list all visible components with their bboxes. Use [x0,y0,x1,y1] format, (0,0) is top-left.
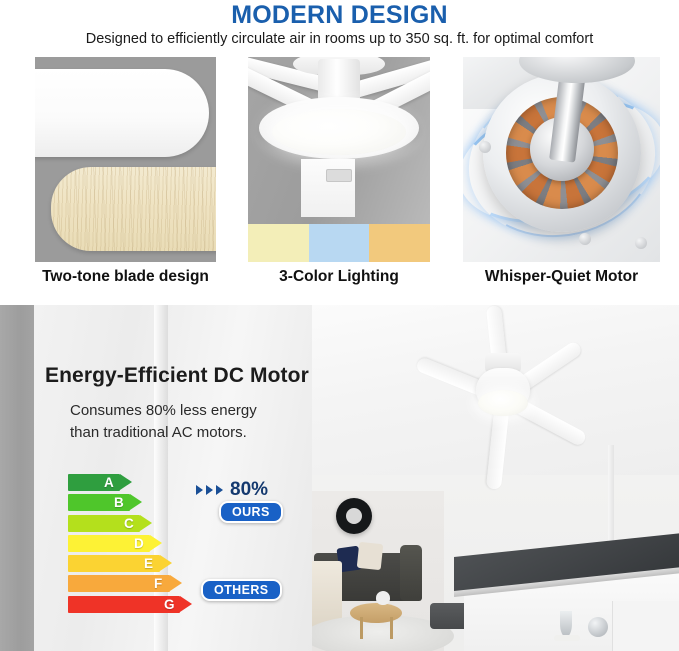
energy-class-bar-arrow [120,474,132,490]
bolt-shape [479,141,491,153]
feature-caption: 3-Color Lighting [279,268,399,286]
energy-class-letter: B [114,494,124,511]
page-title: MODERN DESIGN [0,1,679,30]
energy-class-letter: A [104,474,114,491]
color-swatch-row [248,224,430,262]
modern-design-section: MODERN DESIGN Designed to efficiently ci… [0,0,679,305]
plate-stack [554,635,580,641]
decanter [588,617,608,637]
feature-caption: Whisper-Quiet Motor [485,268,638,286]
feature-panel-3-color-lighting: 3-Color Lighting [248,57,430,262]
fan-light-shape [478,390,528,416]
swatch-soft-amber [369,224,430,262]
feature-panel-two-tone-blade: Two-tone blade design [35,57,216,262]
page-subtitle: Designed to efficiently circulate air in… [0,31,679,47]
sofa-arm [400,545,422,601]
energy-class-bar: C [68,515,218,532]
subtitle-line-2: than traditional AC motors. [70,422,257,444]
fan-light-lens-shape [272,109,406,155]
savings-percent-value: 80% [230,479,268,501]
receiver-shape [326,169,352,182]
energy-class-bar: E [68,555,218,572]
energy-class-bar-arrow [140,515,152,531]
feature-panel-row: Two-tone blade design [0,57,679,305]
left-gray-strip [0,305,34,651]
section-subtitle: Consumes 80% less energy than traditiona… [70,400,257,444]
wood-blade-shape [51,167,216,251]
table-leg [360,617,363,639]
wine-glass [560,611,572,637]
energy-class-bar-arrow [180,596,192,612]
coffee-table [350,603,402,623]
product-infographic: MODERN DESIGN Designed to efficiently ci… [0,0,679,651]
cushion [357,542,384,570]
vase [376,591,390,605]
living-room-photo [312,305,679,651]
wall-plate-shape [301,159,355,217]
swatch-cool-white [309,224,370,262]
swatch-warm-white [248,224,309,262]
subtitle-line-1: Consumes 80% less energy [70,400,257,422]
right-door-panel [612,601,679,651]
energy-class-letter: D [134,535,144,552]
energy-class-letter: E [144,555,153,572]
dc-motor-image [463,57,660,262]
energy-class-bar-arrow [160,555,172,571]
badge-others: OTHERS [201,579,282,601]
table-leg [390,617,393,639]
energy-class-letter: G [164,596,175,613]
bolt-shape [635,237,647,249]
energy-class-bar: G [68,596,218,613]
savings-callout: 80% [196,479,268,501]
triangle-arrow-icon [206,485,213,495]
round-wall-mirror [336,498,372,534]
two-tone-blade-image [35,57,216,262]
badge-ours: OURS [219,501,283,523]
energy-class-bar-arrow [170,575,182,591]
bolt-shape [579,233,591,245]
energy-class-letter: F [154,575,162,592]
energy-class-bar: D [68,535,218,552]
energy-class-letter: C [124,515,134,532]
energy-class-bar-arrow [130,494,142,510]
section-title: Energy-Efficient DC Motor [45,364,309,388]
feature-caption: Two-tone blade design [42,268,209,286]
triangle-arrow-icon [196,485,203,495]
white-blade-shape [35,69,209,157]
energy-class-bar-arrow [150,535,162,551]
energy-class-bar: F [68,575,218,592]
installed-ceiling-fan [408,335,598,445]
ceiling-fan-light-image [248,57,430,262]
triangle-arrow-icon [216,485,223,495]
feature-panel-whisper-quiet-motor: Whisper-Quiet Motor [463,57,660,262]
